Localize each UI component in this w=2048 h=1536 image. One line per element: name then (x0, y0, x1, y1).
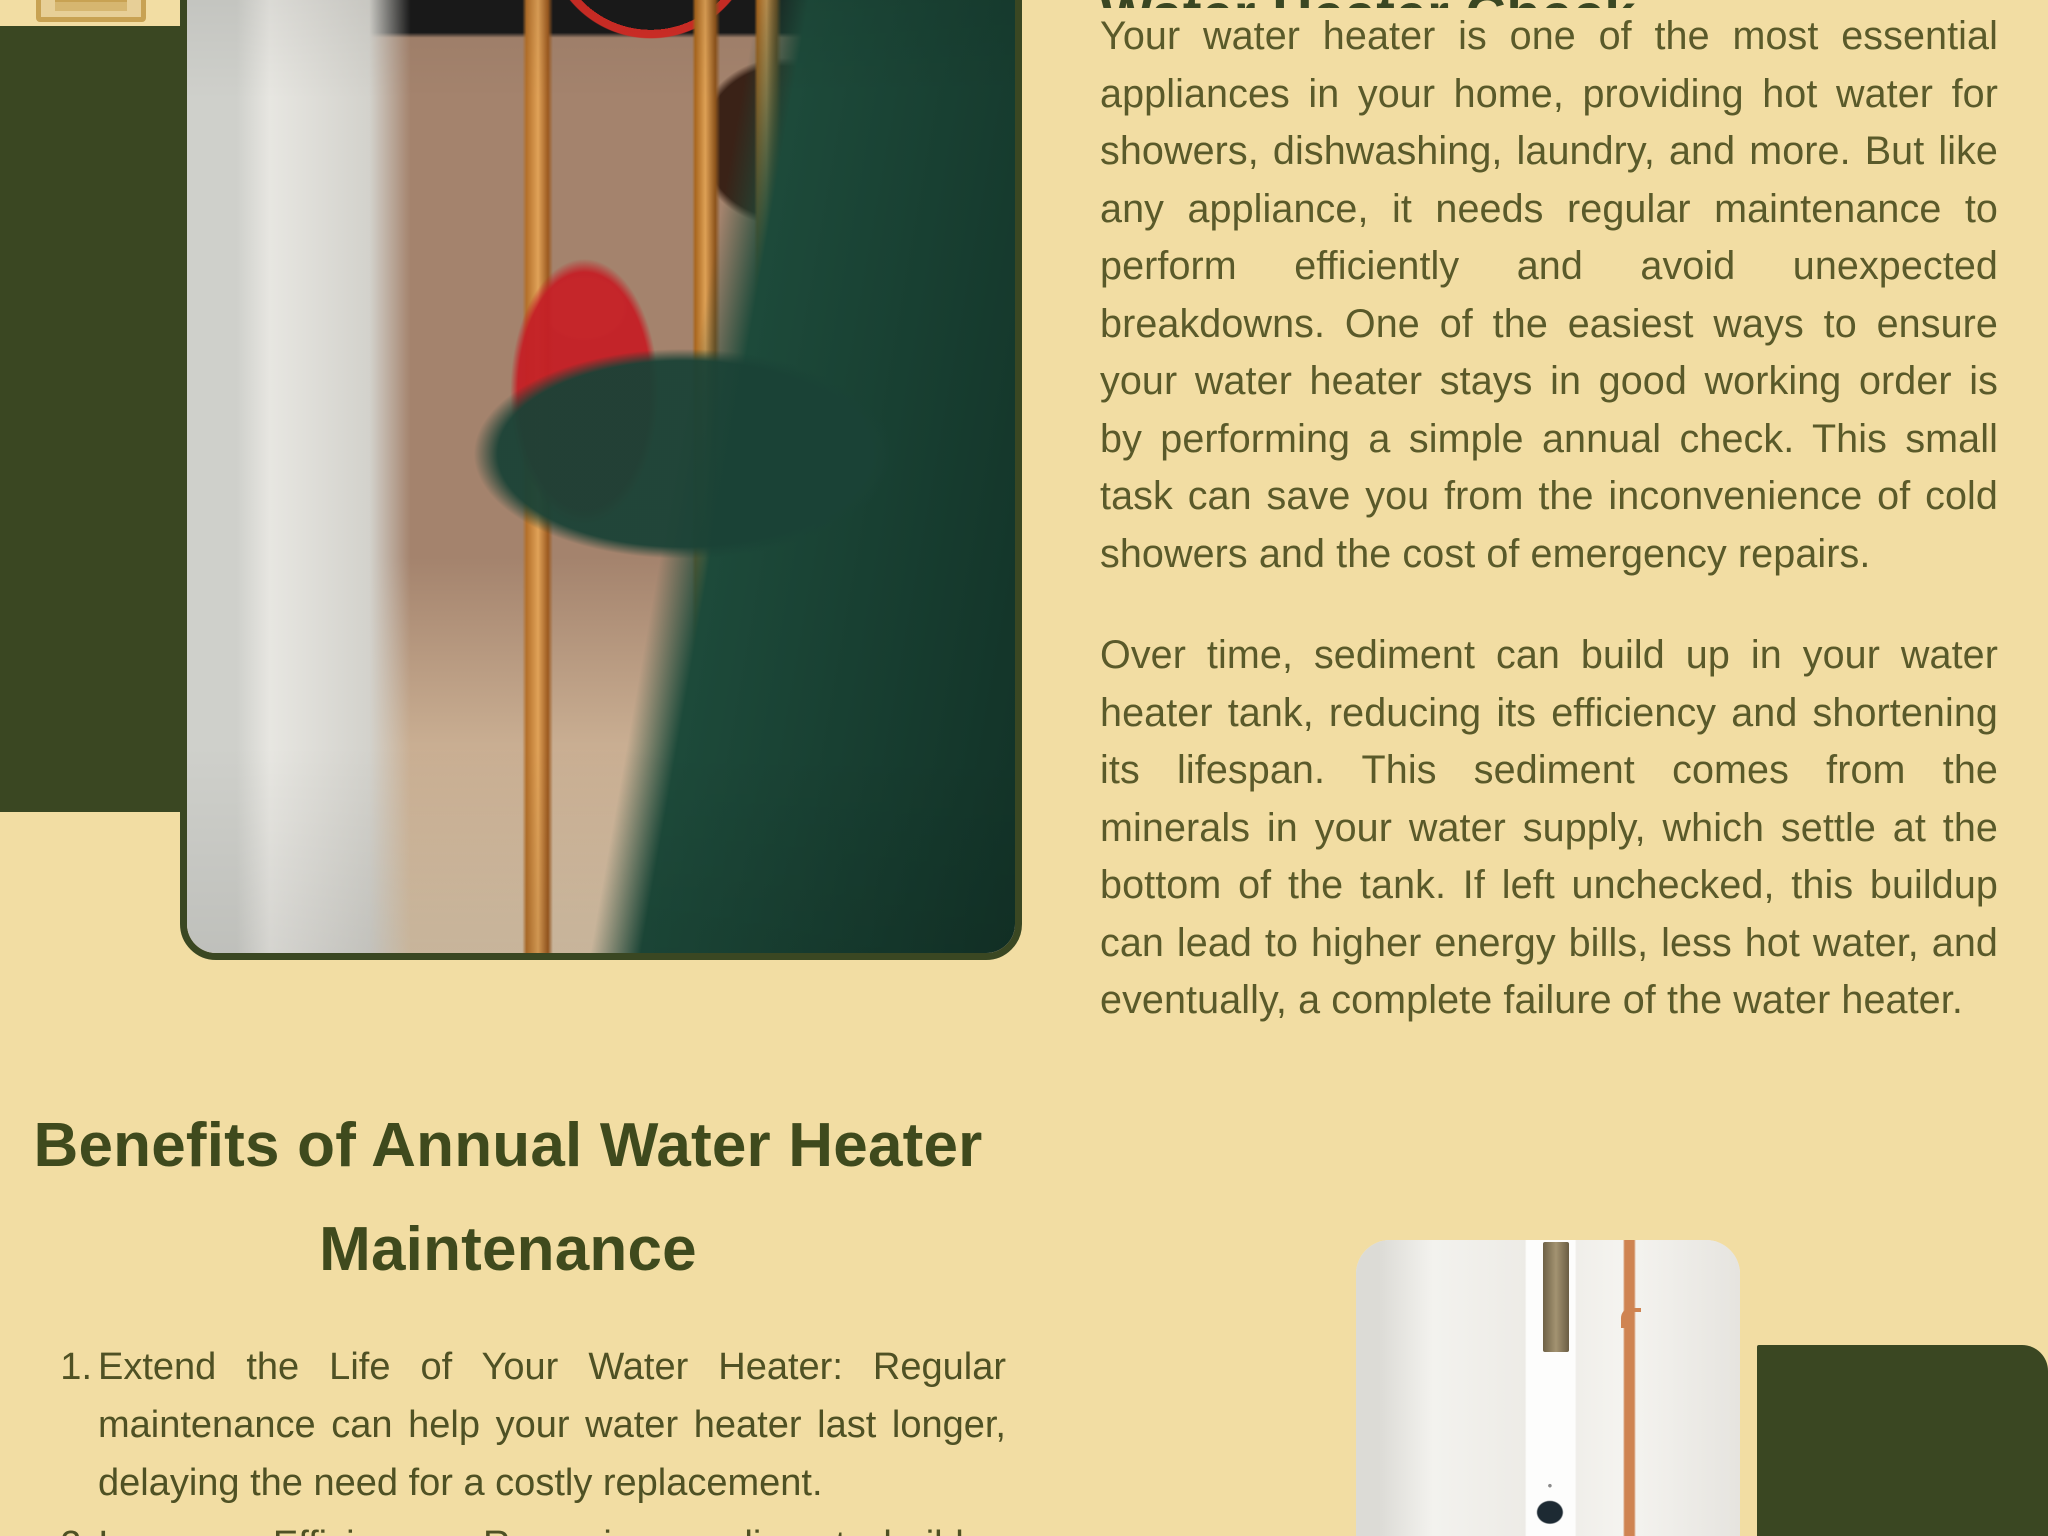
decorative-green-block-bottom-right (1757, 1345, 2048, 1536)
copper-pipe-elbow (1621, 1308, 1641, 1328)
plumber-draining-water-heater-photo (187, 0, 1015, 953)
benefits-heading: Benefits of Annual Water Heater Maintena… (0, 1094, 1016, 1302)
paragraph-2: Over time, sediment can build up in your… (1100, 627, 1998, 1030)
tankless-water-heater-photo (1356, 1240, 1740, 1536)
gold-bracket-ornament-icon (36, 0, 146, 22)
poster-page: Water Heater Check Your water heater is … (0, 0, 2048, 1536)
hero-photo-frame (180, 0, 1022, 960)
list-item: Improve Efficiency: Removing sediment bu… (44, 1516, 1006, 1536)
brass-pipe (1543, 1242, 1569, 1352)
water-heater-photo-frame (1356, 1240, 1740, 1536)
benefits-list: Extend the Life of Your Water Heater: Re… (44, 1338, 1006, 1536)
paragraph-1: Your water heater is one of the most ess… (1100, 8, 1998, 583)
article-text-column: Water Heater Check Your water heater is … (1100, 0, 1998, 1030)
list-item: Extend the Life of Your Water Heater: Re… (44, 1338, 1006, 1512)
section-heading-water-heater-check: Water Heater Check (1100, 0, 1998, 8)
